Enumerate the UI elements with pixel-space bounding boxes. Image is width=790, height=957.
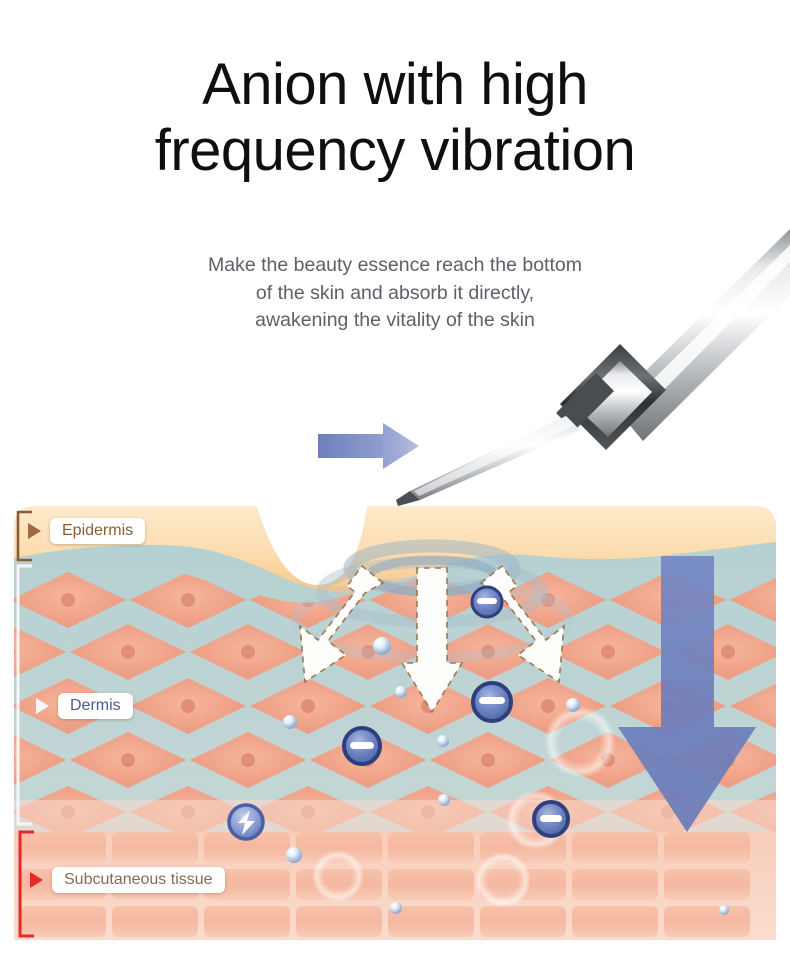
layer-label-dermis-text: Dermis	[58, 693, 133, 720]
page-title: Anion with high frequency vibration	[0, 52, 790, 183]
product-feature-graphic: Anion with high frequency vibration Make…	[0, 0, 790, 957]
direction-arrow	[318, 423, 419, 469]
anion-badge	[344, 728, 380, 764]
layer-label-epidermis: Epidermis	[28, 518, 145, 544]
page-subtitle: Make the beauty essence reach the bottom…	[0, 252, 790, 335]
anion-badge	[473, 683, 511, 721]
triangle-marker-icon	[28, 523, 41, 539]
triangle-marker-icon	[30, 872, 43, 888]
anion-badge	[472, 587, 502, 617]
triangle-marker-icon	[36, 698, 49, 714]
layer-label-dermis: Dermis	[36, 693, 133, 719]
anion-badge	[534, 802, 568, 836]
lightning-bolt-badge	[229, 805, 263, 839]
layer-label-epidermis-text: Epidermis	[50, 518, 145, 545]
layer-label-subcutaneous-text: Subcutaneous tissue	[52, 867, 225, 894]
layer-label-subcutaneous: Subcutaneous tissue	[30, 867, 225, 893]
